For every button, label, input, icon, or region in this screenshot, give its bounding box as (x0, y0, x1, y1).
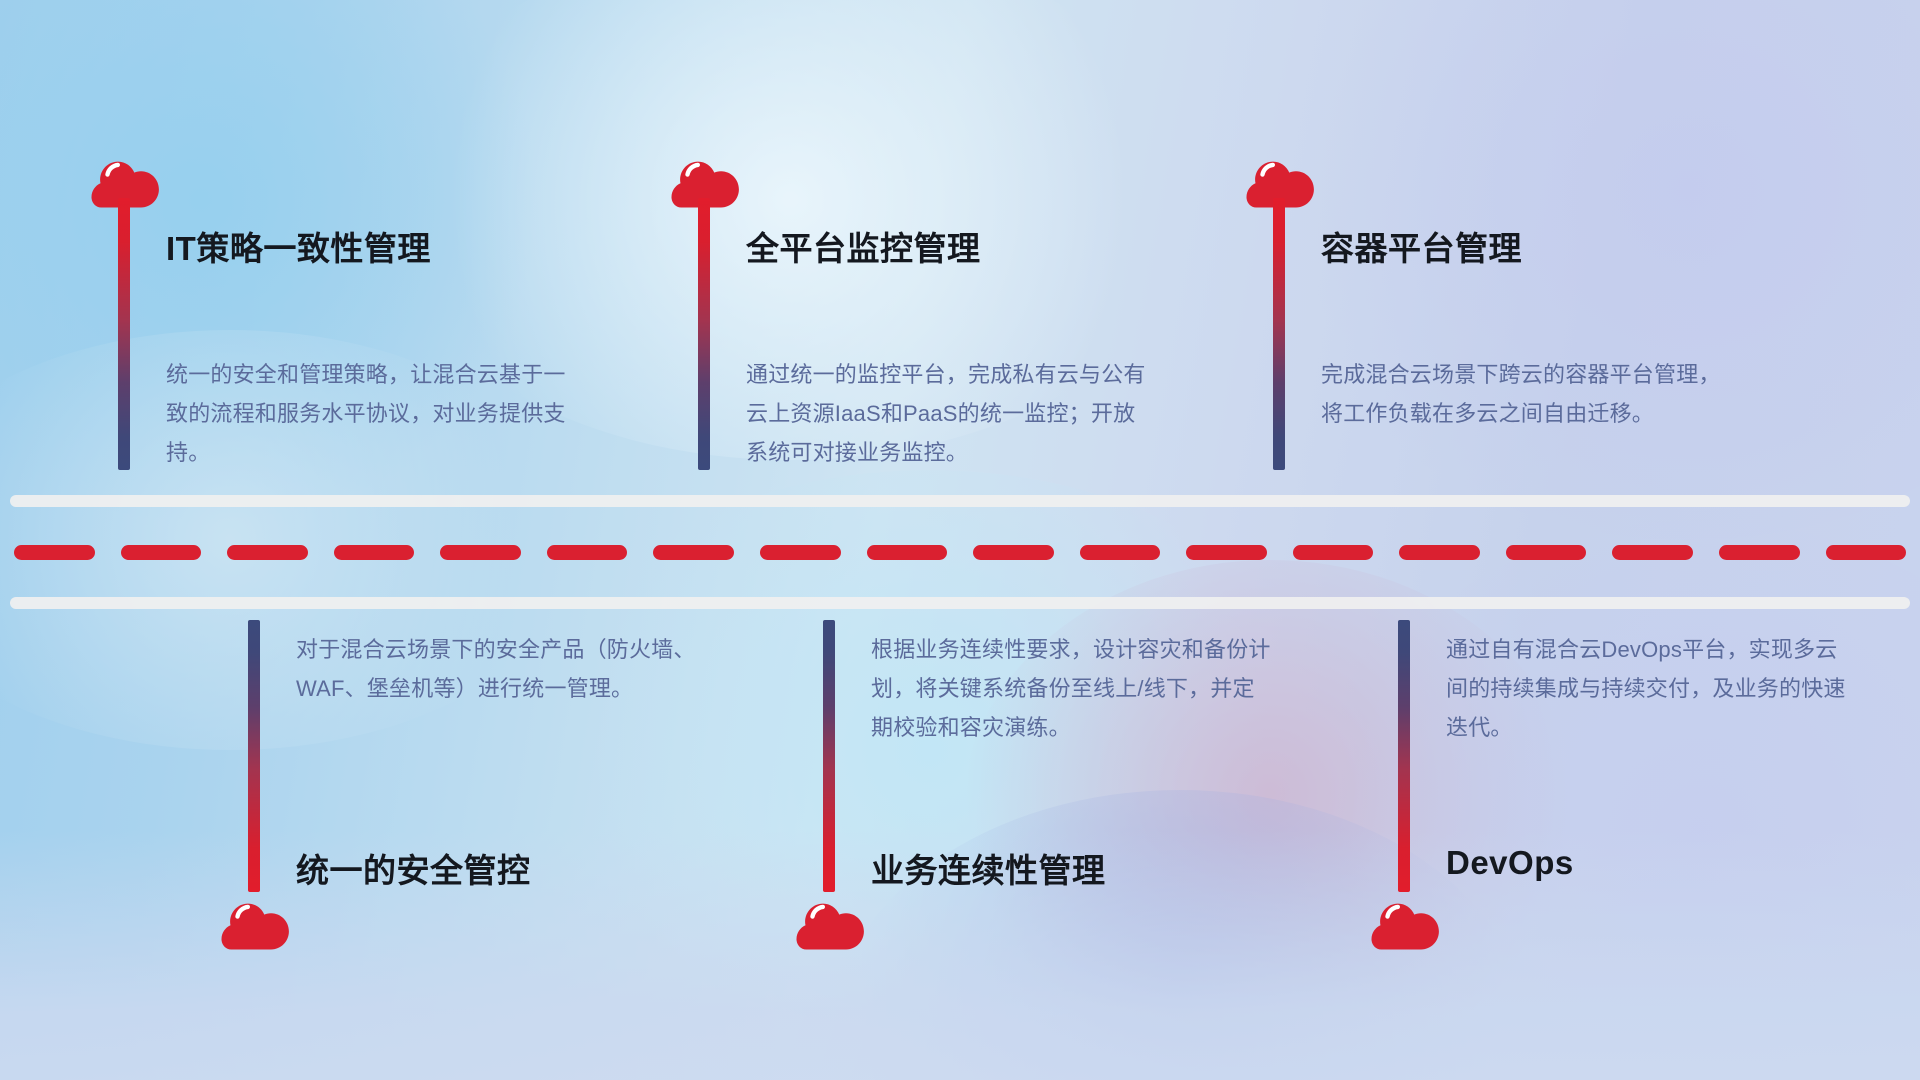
connector-line-3 (1273, 198, 1285, 470)
divider-dash (1506, 545, 1587, 560)
cloud-icon (1368, 892, 1442, 950)
top-heading-3: 容器平台管理 (1321, 222, 1522, 270)
bottom-body-1: 对于混合云场景下的安全产品（防火墙、WAF、堡垒机等）进行统一管理。 (296, 630, 696, 708)
divider-bar-lower (10, 597, 1910, 609)
divider-dash (1826, 545, 1907, 560)
divider-bar-upper (10, 495, 1910, 507)
divider-dashed-line (0, 543, 1920, 561)
bottom-body-3: 通过自有混合云DevOps平台，实现多云间的持续集成与持续交付，及业务的快速迭代… (1446, 630, 1846, 747)
top-marker-2 (668, 150, 742, 208)
divider-dash (760, 545, 841, 560)
divider-dash (14, 545, 95, 560)
top-marker-3 (1243, 150, 1317, 208)
divider-dash (547, 545, 628, 560)
bottom-heading-3: DevOps (1446, 844, 1574, 882)
connector-line-4 (248, 620, 260, 892)
divider-dash (1612, 545, 1693, 560)
divider-dash (121, 545, 202, 560)
cloud-wrap-4 (218, 892, 292, 950)
bottom-body-2: 根据业务连续性要求，设计容灾和备份计划，将关键系统备份至线上/线下，并定期校验和… (871, 630, 1271, 747)
divider-dash (867, 545, 948, 560)
top-body-2: 通过统一的监控平台，完成私有云与公有云上资源IaaS和PaaS的统一监控；开放系… (746, 355, 1146, 472)
divider-dash (653, 545, 734, 560)
divider-dash (1719, 545, 1800, 560)
divider-dash (973, 545, 1054, 560)
connector-line-2 (698, 198, 710, 470)
divider-dash (334, 545, 415, 560)
infographic-canvas: IT策略一致性管理 统一的安全和管理策略，让混合云基于一致的流程和服务水平协议，… (0, 0, 1920, 1080)
top-body-1: 统一的安全和管理策略，让混合云基于一致的流程和服务水平协议，对业务提供支持。 (166, 355, 566, 472)
bottom-heading-2: 业务连续性管理 (871, 844, 1106, 892)
divider-dash (1399, 545, 1480, 560)
cloud-wrap-5 (793, 892, 867, 950)
top-heading-2: 全平台监控管理 (746, 222, 981, 270)
connector-line-1 (118, 198, 130, 470)
cloud-icon (793, 892, 867, 950)
connector-line-6 (1398, 620, 1410, 892)
connector-line-5 (823, 620, 835, 892)
top-heading-1: IT策略一致性管理 (166, 222, 431, 270)
divider-dash (1186, 545, 1267, 560)
divider-dash (1293, 545, 1374, 560)
top-body-3: 完成混合云场景下跨云的容器平台管理，将工作负载在多云之间自由迁移。 (1321, 355, 1721, 433)
cloud-icon (218, 892, 292, 950)
divider-dash (1080, 545, 1161, 560)
top-marker-1 (88, 150, 162, 208)
background-blob-lavender-top (1260, 0, 1920, 540)
divider-dash (227, 545, 308, 560)
cloud-wrap-6 (1368, 892, 1442, 950)
divider-dash (440, 545, 521, 560)
bottom-heading-1: 统一的安全管控 (296, 844, 531, 892)
